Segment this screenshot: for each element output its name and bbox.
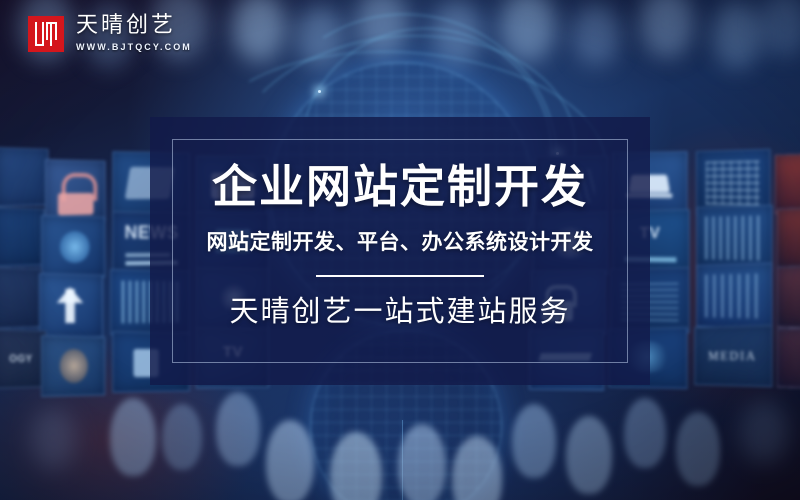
tianqing-square-logo-icon [28,16,64,52]
brand-logo[interactable]: 天晴创艺 WWW.BJTQCY.COM [28,14,192,53]
headline-panel-border: 企业网站定制开发 网站定制开发、平台、办公系统设计开发 天晴创艺一站式建站服务 [172,139,628,363]
divider [316,275,484,277]
brand-logo-text: 天晴创艺 WWW.BJTQCY.COM [76,14,192,53]
promo-banner: NEWS OGY TV [0,0,800,500]
page-title: 企业网站定制开发 [212,162,588,212]
headline-panel: 企业网站定制开发 网站定制开发、平台、办公系统设计开发 天晴创艺一站式建站服务 [150,117,650,385]
brand-name-cn: 天晴创艺 [76,14,192,38]
brand-website-url: WWW.BJTQCY.COM [76,41,192,53]
page-tagline: 天晴创艺一站式建站服务 [229,293,570,329]
page-subtitle: 网站定制开发、平台、办公系统设计开发 [207,229,594,255]
